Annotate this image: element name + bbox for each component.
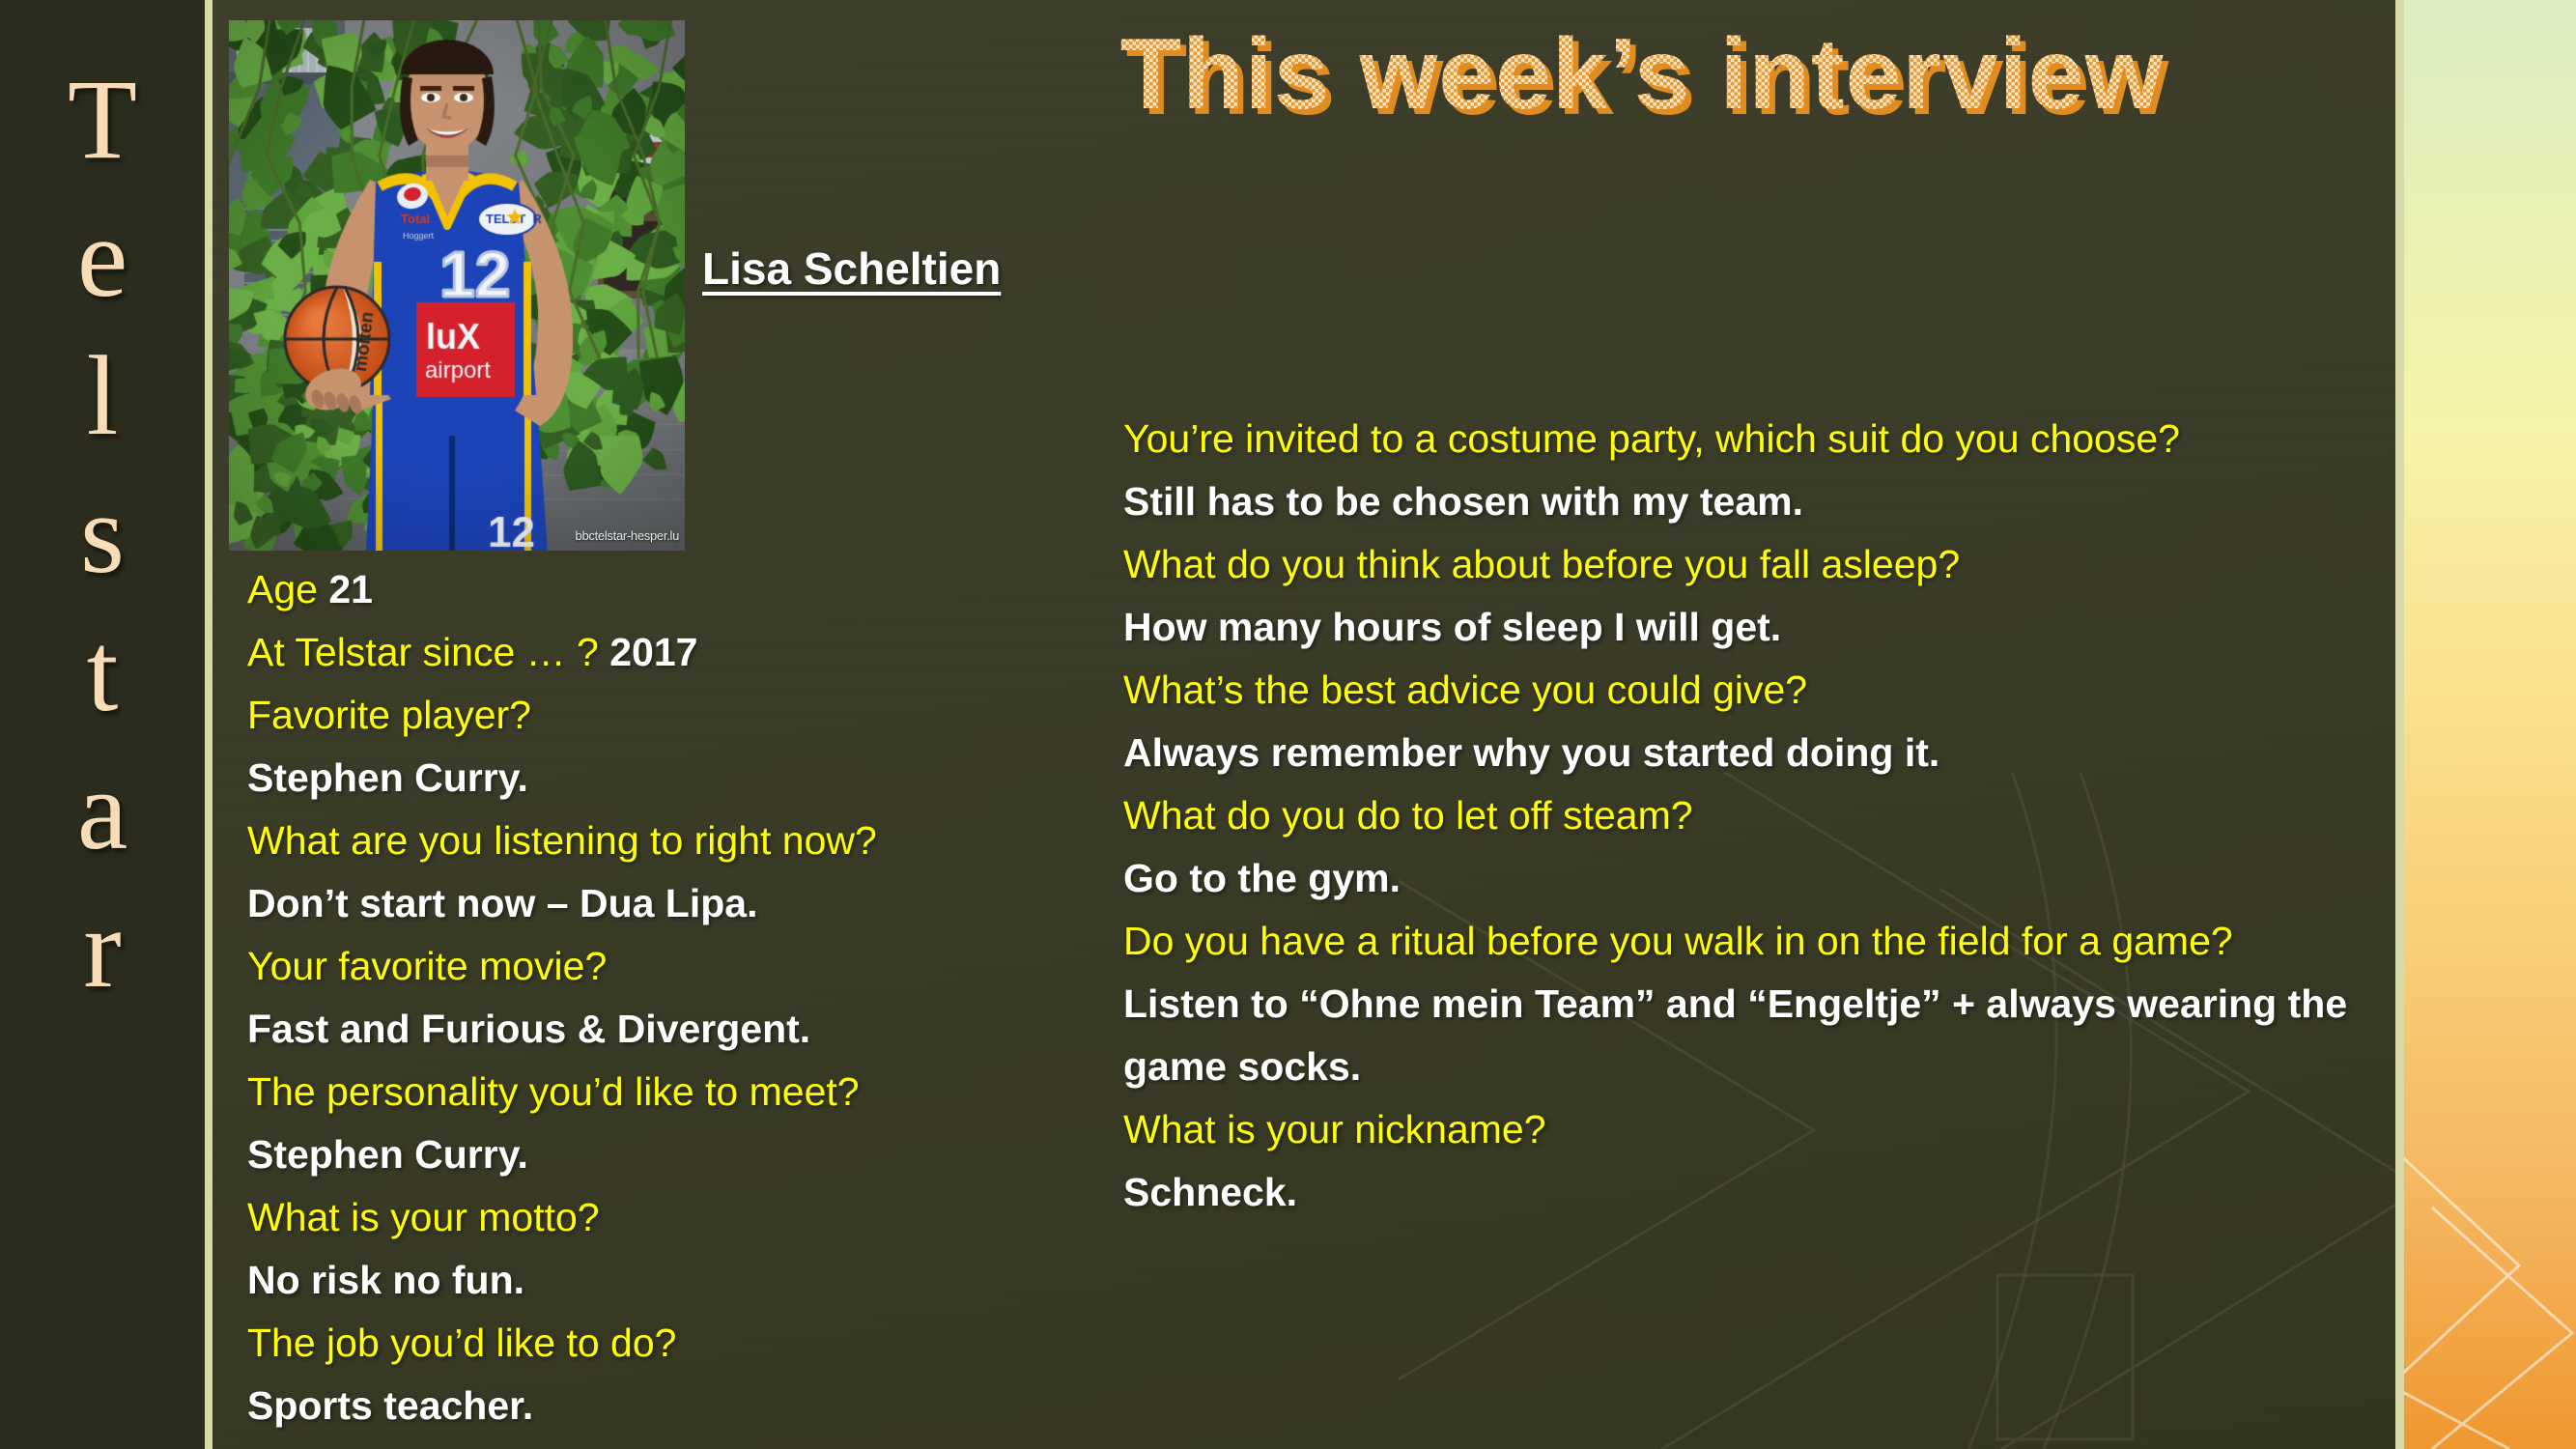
right-question-10: What is your nickname? (1123, 1098, 2369, 1161)
left-answer-11: No risk no fun. (247, 1249, 1049, 1312)
left-question-8: The personality you’d like to meet? (247, 1061, 1049, 1123)
right-answer-3: How many hours of sleep I will get. (1123, 596, 2369, 659)
right-answer-7: Go to the gym. (1123, 847, 2369, 910)
left-answer-13: Sports teacher. (247, 1375, 1049, 1437)
band-divider (2395, 0, 2404, 1449)
left-answer-9: Stephen Curry. (247, 1123, 1049, 1186)
rail-letter-5: a (77, 741, 127, 879)
right-question-6: What do you do to let off steam? (1123, 784, 2369, 847)
rail-letter-0: T (68, 50, 137, 188)
right-answer-1: Still has to be chosen with my team. (1123, 470, 2369, 533)
left-question-0: Age (247, 567, 328, 611)
left-answer-7: Fast and Furious & Divergent. (247, 998, 1049, 1061)
left-question-2: Favorite player? (247, 684, 1049, 747)
interviewee-name: Lisa Scheltien (702, 241, 1001, 296)
slide-canvas: T e l s t a r bbctelstar-hesper.lu This … (0, 0, 2576, 1449)
left-answer-0: 21 (328, 567, 373, 611)
right-answer-9: Listen to “Ohne mein Team” and “Engeltje… (1123, 973, 2369, 1098)
left-answer-3: Stephen Curry. (247, 747, 1049, 810)
rail-letter-1: e (77, 188, 127, 327)
player-photo-image (229, 20, 685, 551)
left-answer-5: Don’t start now – Dua Lipa. (247, 872, 1049, 935)
accent-gradient-band (2403, 0, 2576, 1449)
left-fact-1: At Telstar since … ? 2017 (247, 621, 1049, 684)
rail-letter-3: s (80, 465, 125, 603)
page-title: This week’s interview (947, 21, 2337, 128)
left-question-4: What are you listening to right now? (247, 810, 1049, 872)
left-answer-1: 2017 (609, 630, 697, 674)
player-photo: bbctelstar-hesper.lu (229, 20, 685, 551)
rail-divider (205, 0, 212, 1449)
right-question-2: What do you think about before you fall … (1123, 533, 2369, 596)
left-fact-0: Age 21 (247, 558, 1049, 621)
left-question-12: The job you’d like to do? (247, 1312, 1049, 1375)
right-question-4: What’s the best advice you could give? (1123, 659, 2369, 722)
right-question-8: Do you have a ritual before you walk in … (1123, 910, 2369, 973)
rail-letter-6: r (83, 879, 121, 1017)
left-question-10: What is your motto? (247, 1186, 1049, 1249)
photo-credit-watermark: bbctelstar-hesper.lu (576, 528, 679, 543)
left-question-6: Your favorite movie? (247, 935, 1049, 998)
rail-letter-4: t (87, 603, 119, 741)
right-question-0: You’re invited to a costume party, which… (1123, 408, 2369, 470)
left-question-1: At Telstar since … ? (247, 630, 609, 674)
left-rail: T e l s t a r (0, 0, 205, 1449)
qa-column-left: Age 21At Telstar since … ? 2017Favorite … (247, 558, 1049, 1437)
band-chevron-icon (2403, 0, 2576, 1449)
rail-brand-telstar: T e l s t a r (0, 50, 205, 1017)
right-answer-11: Schneck. (1123, 1161, 2369, 1224)
rail-letter-2: l (87, 327, 119, 465)
right-answer-5: Always remember why you started doing it… (1123, 722, 2369, 784)
qa-column-right: You’re invited to a costume party, which… (1123, 408, 2369, 1224)
